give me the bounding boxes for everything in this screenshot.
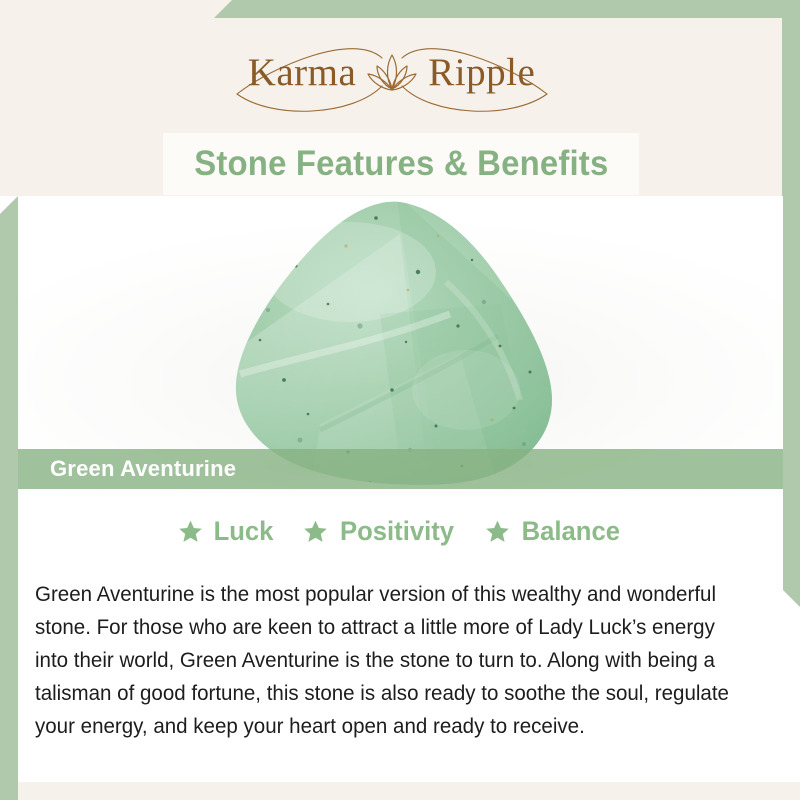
page-title: Stone Features & Benefits xyxy=(194,144,608,184)
keyword-item: Positivity xyxy=(303,516,457,547)
star-icon xyxy=(485,519,510,544)
brand-word-right: Ripple xyxy=(428,53,535,92)
keyword-item: Luck xyxy=(178,516,275,547)
lotus-icon xyxy=(366,49,418,95)
star-icon xyxy=(178,519,203,544)
keyword-label: Luck xyxy=(214,516,274,547)
keyword-item: Balance xyxy=(485,516,623,547)
keyword-label: Balance xyxy=(522,516,620,547)
frame-accent-right xyxy=(782,0,800,607)
brand-word-left: Karma xyxy=(248,53,357,92)
stone-name-label: Green Aventurine xyxy=(50,456,236,482)
brand-logo: Karma Ripple xyxy=(0,26,783,118)
keyword-label: Positivity xyxy=(340,516,454,547)
stone-info-section: Luck Positivity Balance Green Aventurine… xyxy=(18,494,783,782)
frame-accent-left xyxy=(0,196,18,800)
green-aventurine-stone-image xyxy=(200,196,600,492)
stone-description: Green Aventurine is the most popular ver… xyxy=(35,578,740,743)
star-icon xyxy=(303,519,328,544)
infographic-page: Karma Ripple Stone Features & Benefits xyxy=(0,0,800,800)
stone-name-band: Green Aventurine xyxy=(18,449,783,489)
frame-accent-top-right xyxy=(214,0,800,18)
footer-background xyxy=(18,782,800,800)
section-title-box: Stone Features & Benefits xyxy=(163,133,639,195)
keyword-list: Luck Positivity Balance xyxy=(18,516,783,547)
